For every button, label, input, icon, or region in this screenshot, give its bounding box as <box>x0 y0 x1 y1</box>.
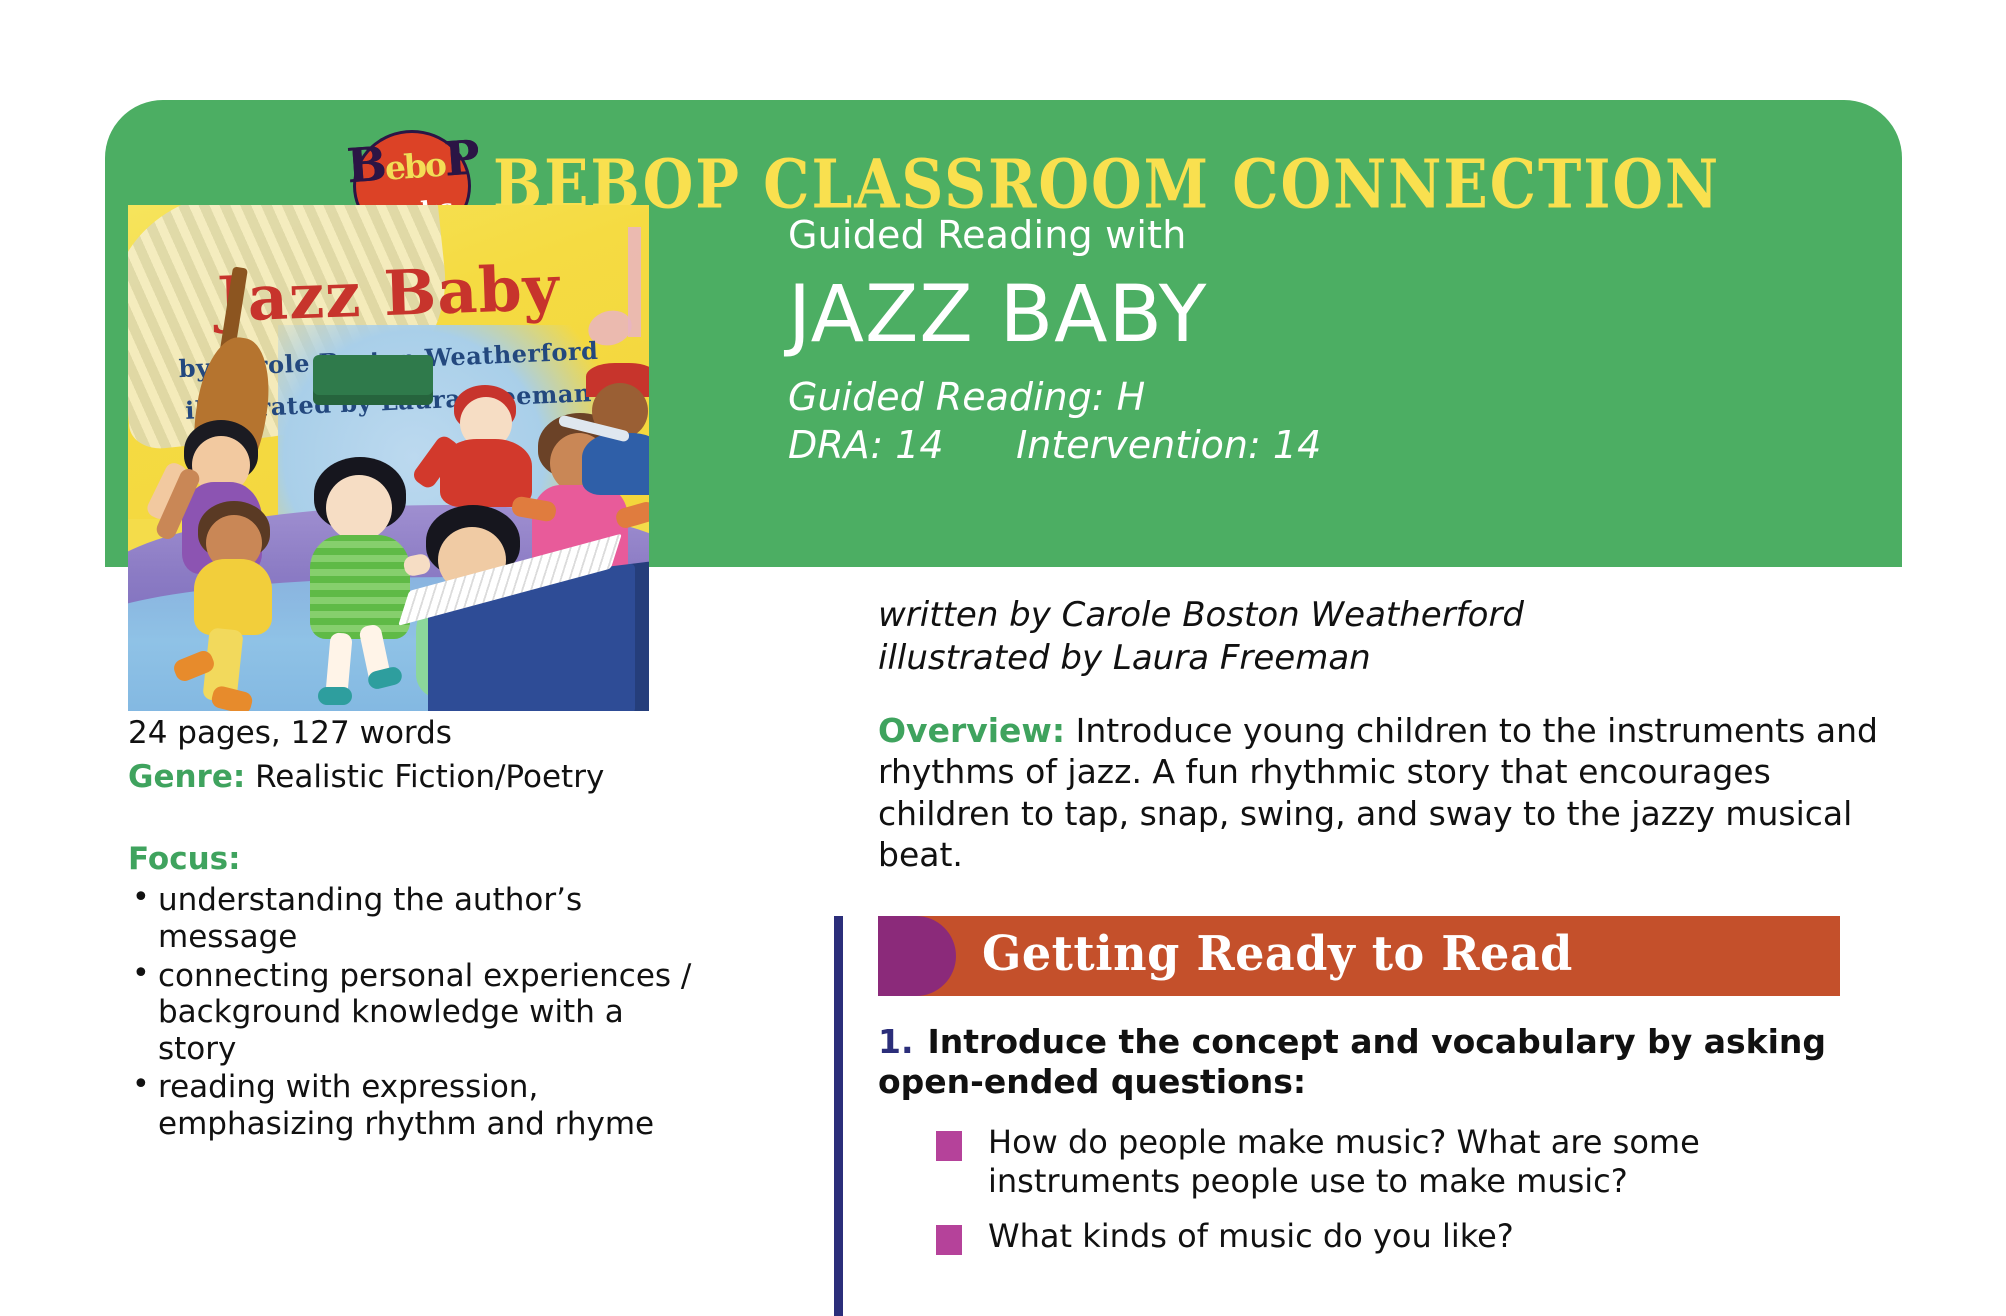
overview-paragraph: Overview: Introduce young children to th… <box>878 710 1888 876</box>
banner-title: Getting Ready to Read <box>982 926 1573 982</box>
header-eyebrow: Guided Reading with <box>788 215 1848 257</box>
vertical-divider <box>834 916 843 1316</box>
genre-line: Genre: Realistic Fiction/Poetry <box>128 759 708 797</box>
list-item: How do people make music? What are some … <box>936 1123 1878 1201</box>
list-item: understanding the author’s message <box>128 882 708 955</box>
getting-ready-section: Getting Ready to Read 1.Introduce the co… <box>878 916 1878 1272</box>
focus-list: understanding the author’s message conne… <box>128 882 708 1142</box>
guided-reading-level: Guided Reading: H <box>788 374 1848 422</box>
kid-yellow-dancer <box>162 473 312 703</box>
getting-ready-banner: Getting Ready to Read <box>878 916 1840 996</box>
header-info-block: Guided Reading with JAZZ BABY Guided Rea… <box>788 215 1848 469</box>
step-number: 1. <box>878 1022 914 1061</box>
piano <box>428 561 649 711</box>
overview-label: Overview: <box>878 711 1065 750</box>
written-by: written by Carole Boston Weatherford <box>878 594 1888 637</box>
dra-intervention-level: DRA: 14 Intervention: 14 <box>788 422 1848 470</box>
step-1: 1.Introduce the concept and vocabulary b… <box>878 1022 1878 1101</box>
list-item: reading with expression, emphasizing rhy… <box>128 1069 708 1142</box>
logo-primary-text: BeboP <box>345 130 477 201</box>
drum-set <box>313 355 433 405</box>
credits-overview-block: written by Carole Boston Weatherford ill… <box>878 594 1888 876</box>
illustrated-by: illustrated by Laura Freeman <box>878 637 1888 680</box>
step-text: Introduce the concept and vocabulary by … <box>878 1022 1826 1101</box>
book-cover-image: Jazz Baby by Carole Boston Weatherford i… <box>128 205 649 711</box>
list-item: What kinds of music do you like? <box>936 1217 1878 1256</box>
banner-halfcircle-accent <box>878 916 956 996</box>
focus-heading: Focus: <box>128 841 708 879</box>
left-info-column: 24 pages, 127 words Genre: Realistic Fic… <box>128 715 708 1144</box>
focus-label: Focus: <box>128 841 241 877</box>
kid-flutist <box>572 363 649 493</box>
genre-value: Realistic Fiction/Poetry <box>245 759 604 795</box>
question-list: How do people make music? What are some … <box>936 1123 1878 1256</box>
pages-words: 24 pages, 127 words <box>128 715 708 753</box>
page-title: JAZZ BABY <box>788 271 1848 361</box>
genre-label: Genre: <box>128 759 245 795</box>
list-item: connecting personal experiences / backgr… <box>128 958 708 1068</box>
